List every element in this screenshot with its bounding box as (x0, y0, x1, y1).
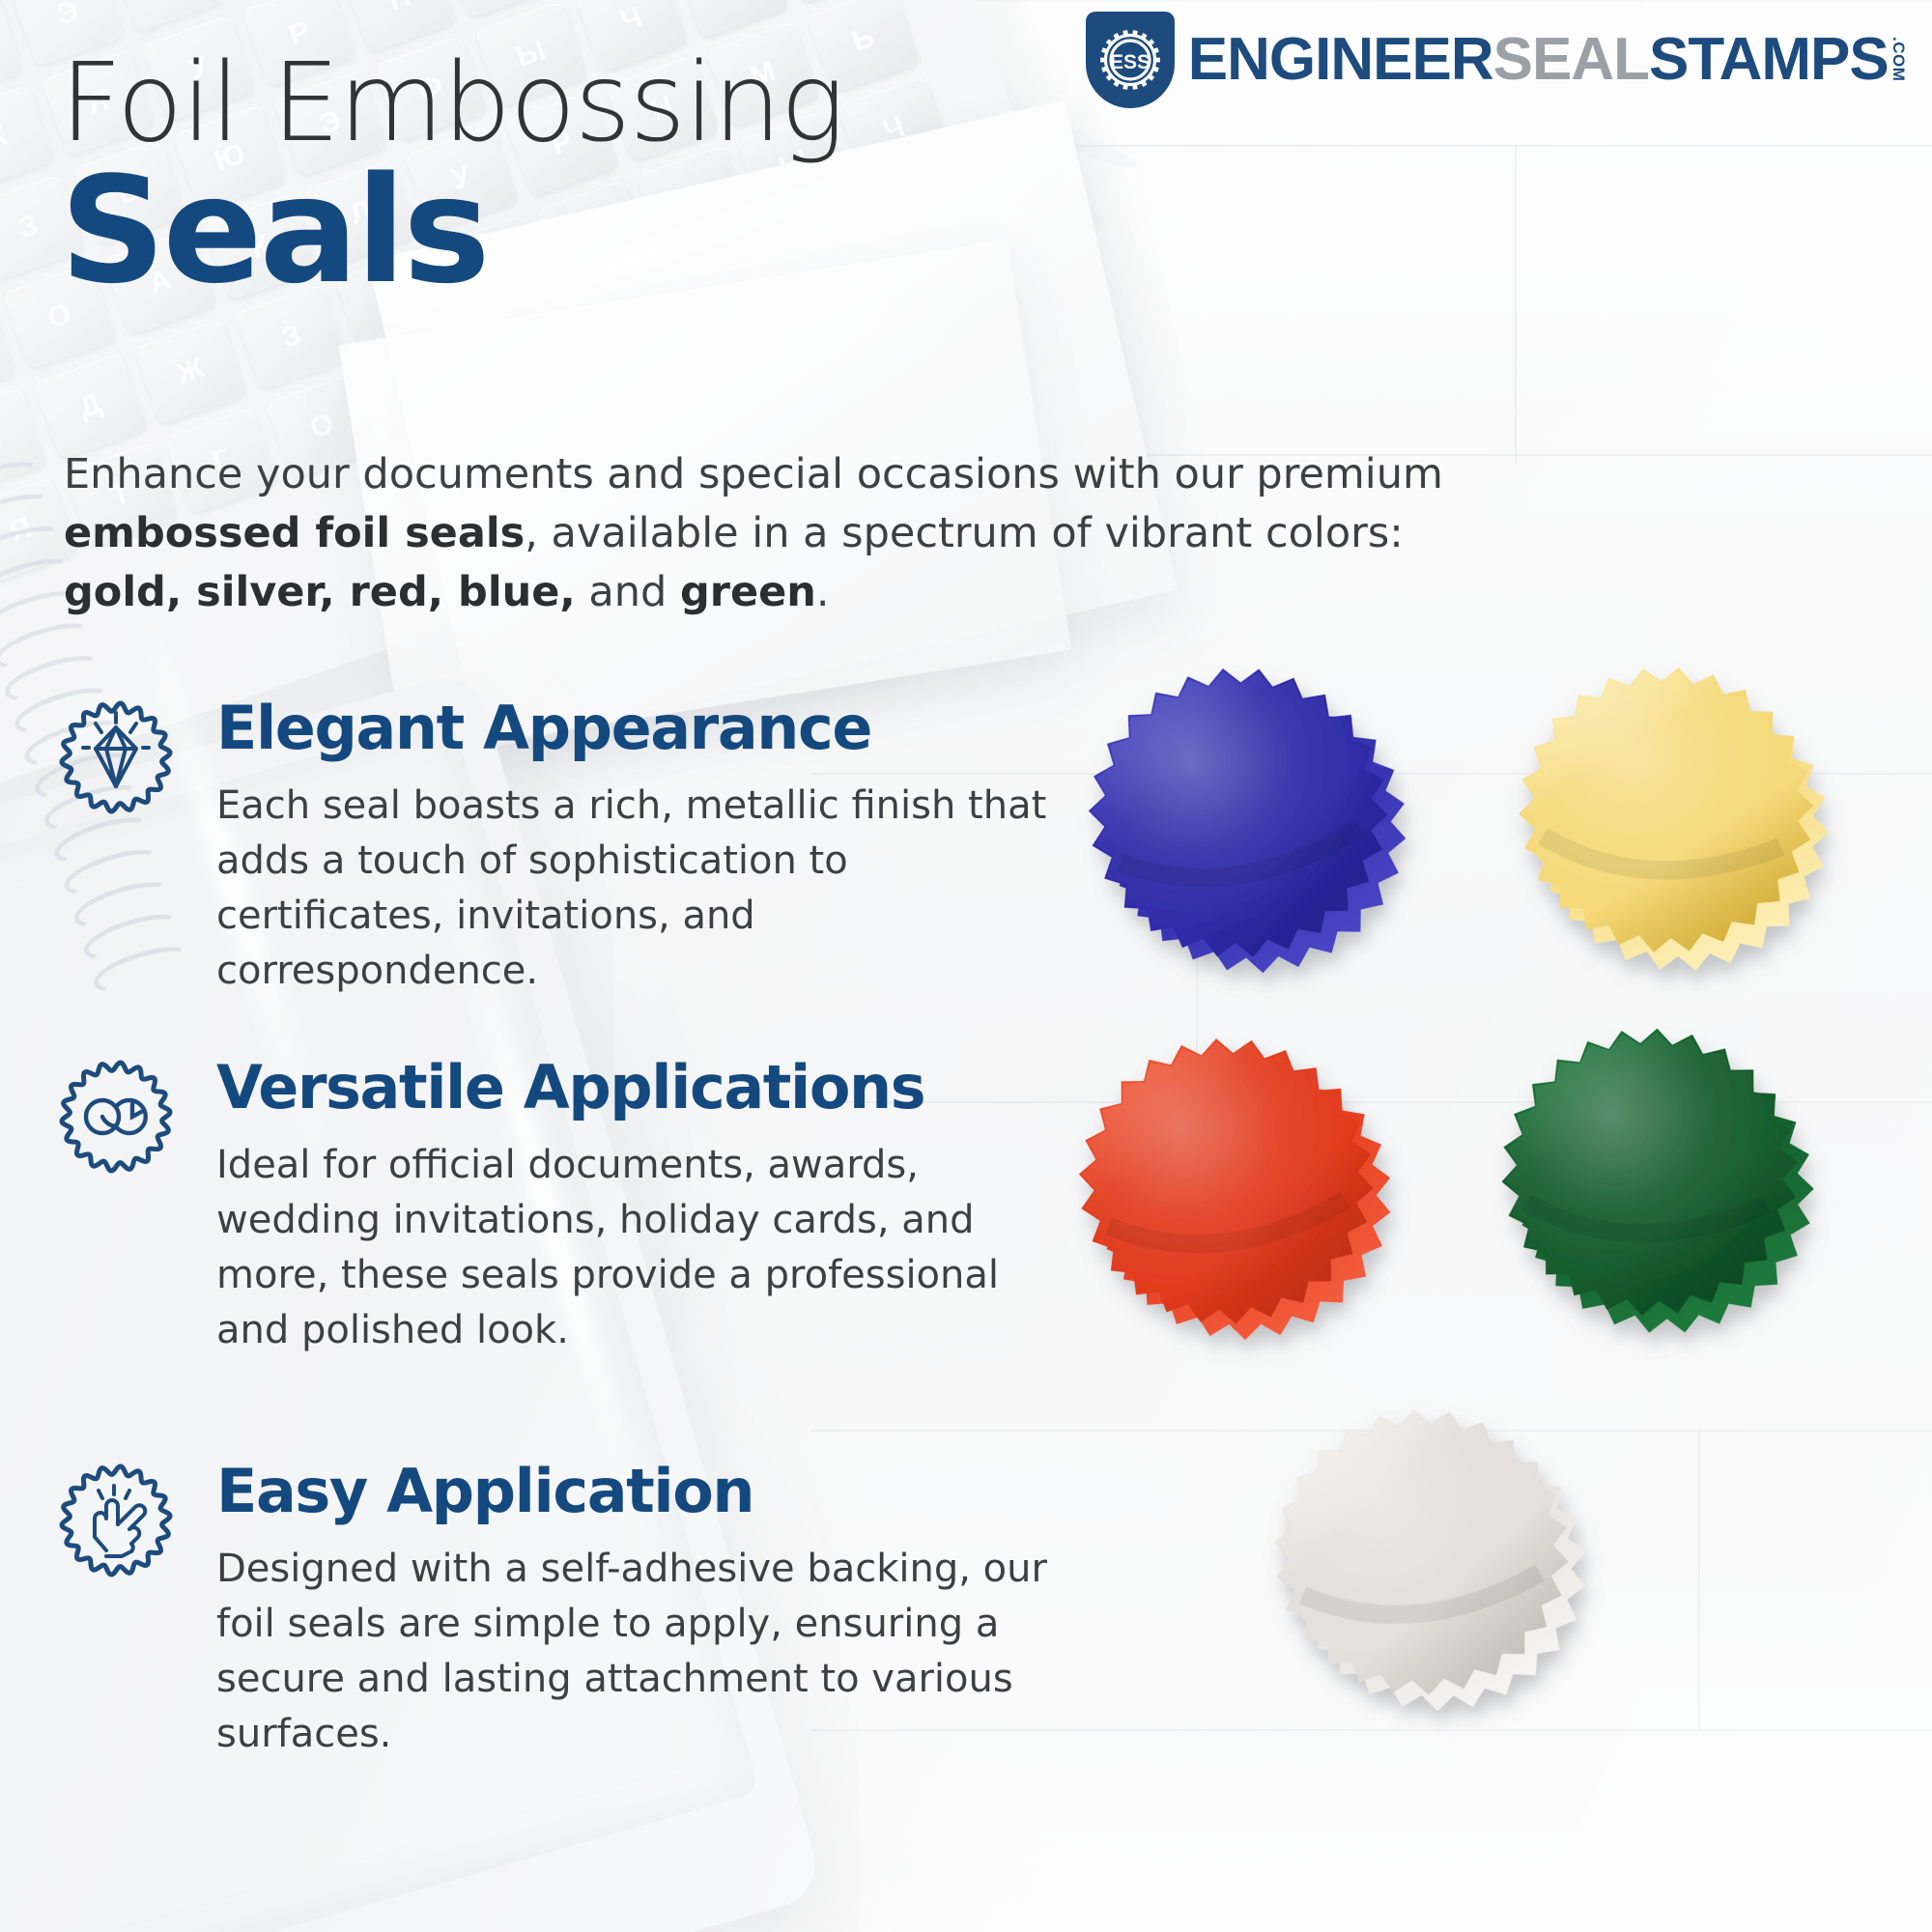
intro-bold-2: gold, silver, red, blue, (64, 568, 576, 616)
foil-seal-red: red foil seal (1050, 1009, 1410, 1360)
diamond-gem-badge-icon (56, 697, 176, 817)
logo-word-tld: .COM (1891, 37, 1905, 85)
ess-shield-icon: ESS (1086, 12, 1175, 108)
intro-text-2: , available in a spectrum of vibrant col… (525, 509, 1404, 557)
intro-text-1: Enhance your documents and special occas… (64, 450, 1443, 498)
tapping-hand-badge-icon (56, 1461, 176, 1580)
intro-bold-1: embossed foil seals (64, 509, 525, 557)
foil-seal-silver: silver foil seal (1247, 1382, 1602, 1728)
page-title-line2: Seals (60, 145, 488, 316)
intro-text-3: and (576, 568, 680, 616)
feature-text: Designed with a self-adhesive backing, o… (216, 1542, 1066, 1761)
feature-heading: Versatile Applications (216, 1057, 1080, 1119)
intro-bold-3: green (680, 568, 816, 616)
infinity-badge-icon (56, 1057, 176, 1177)
feature-heading: Elegant Appearance (216, 697, 1080, 759)
foil-seal-blue: blue foil seal (1054, 632, 1430, 999)
foil-seal-gold: gold foil seal (1487, 635, 1852, 991)
feature-heading: Easy Application (216, 1461, 1080, 1522)
logo-word-engineer: ENGINEER (1188, 35, 1493, 85)
foil-seal-green: green foil seal (1474, 1002, 1831, 1350)
intro-text-4: . (816, 568, 830, 616)
intro-paragraph: Enhance your documents and special occas… (64, 445, 1474, 622)
logo-word-seal: SEAL (1493, 35, 1649, 85)
feature-text: Ideal for official documents, awards, we… (216, 1138, 1066, 1357)
feature-easy-application: Easy Application Designed with a self-ad… (56, 1461, 1080, 1762)
feature-versatile-applications: Versatile Applications Ideal for officia… (56, 1057, 1080, 1358)
logo-word-stamps: STAMPS (1649, 35, 1889, 85)
brand-wordmark: ENGINEER SEAL STAMPS .COM (1188, 35, 1905, 85)
feature-text: Each seal boasts a rich, metallic finish… (216, 779, 1066, 998)
logo-initials: ESS (1110, 51, 1151, 73)
feature-elegant-appearance: Elegant Appearance Each seal boasts a ri… (56, 697, 1080, 999)
brand-logo[interactable]: ESS ENGINEER SEAL STAMPS .COM (1086, 12, 1905, 108)
